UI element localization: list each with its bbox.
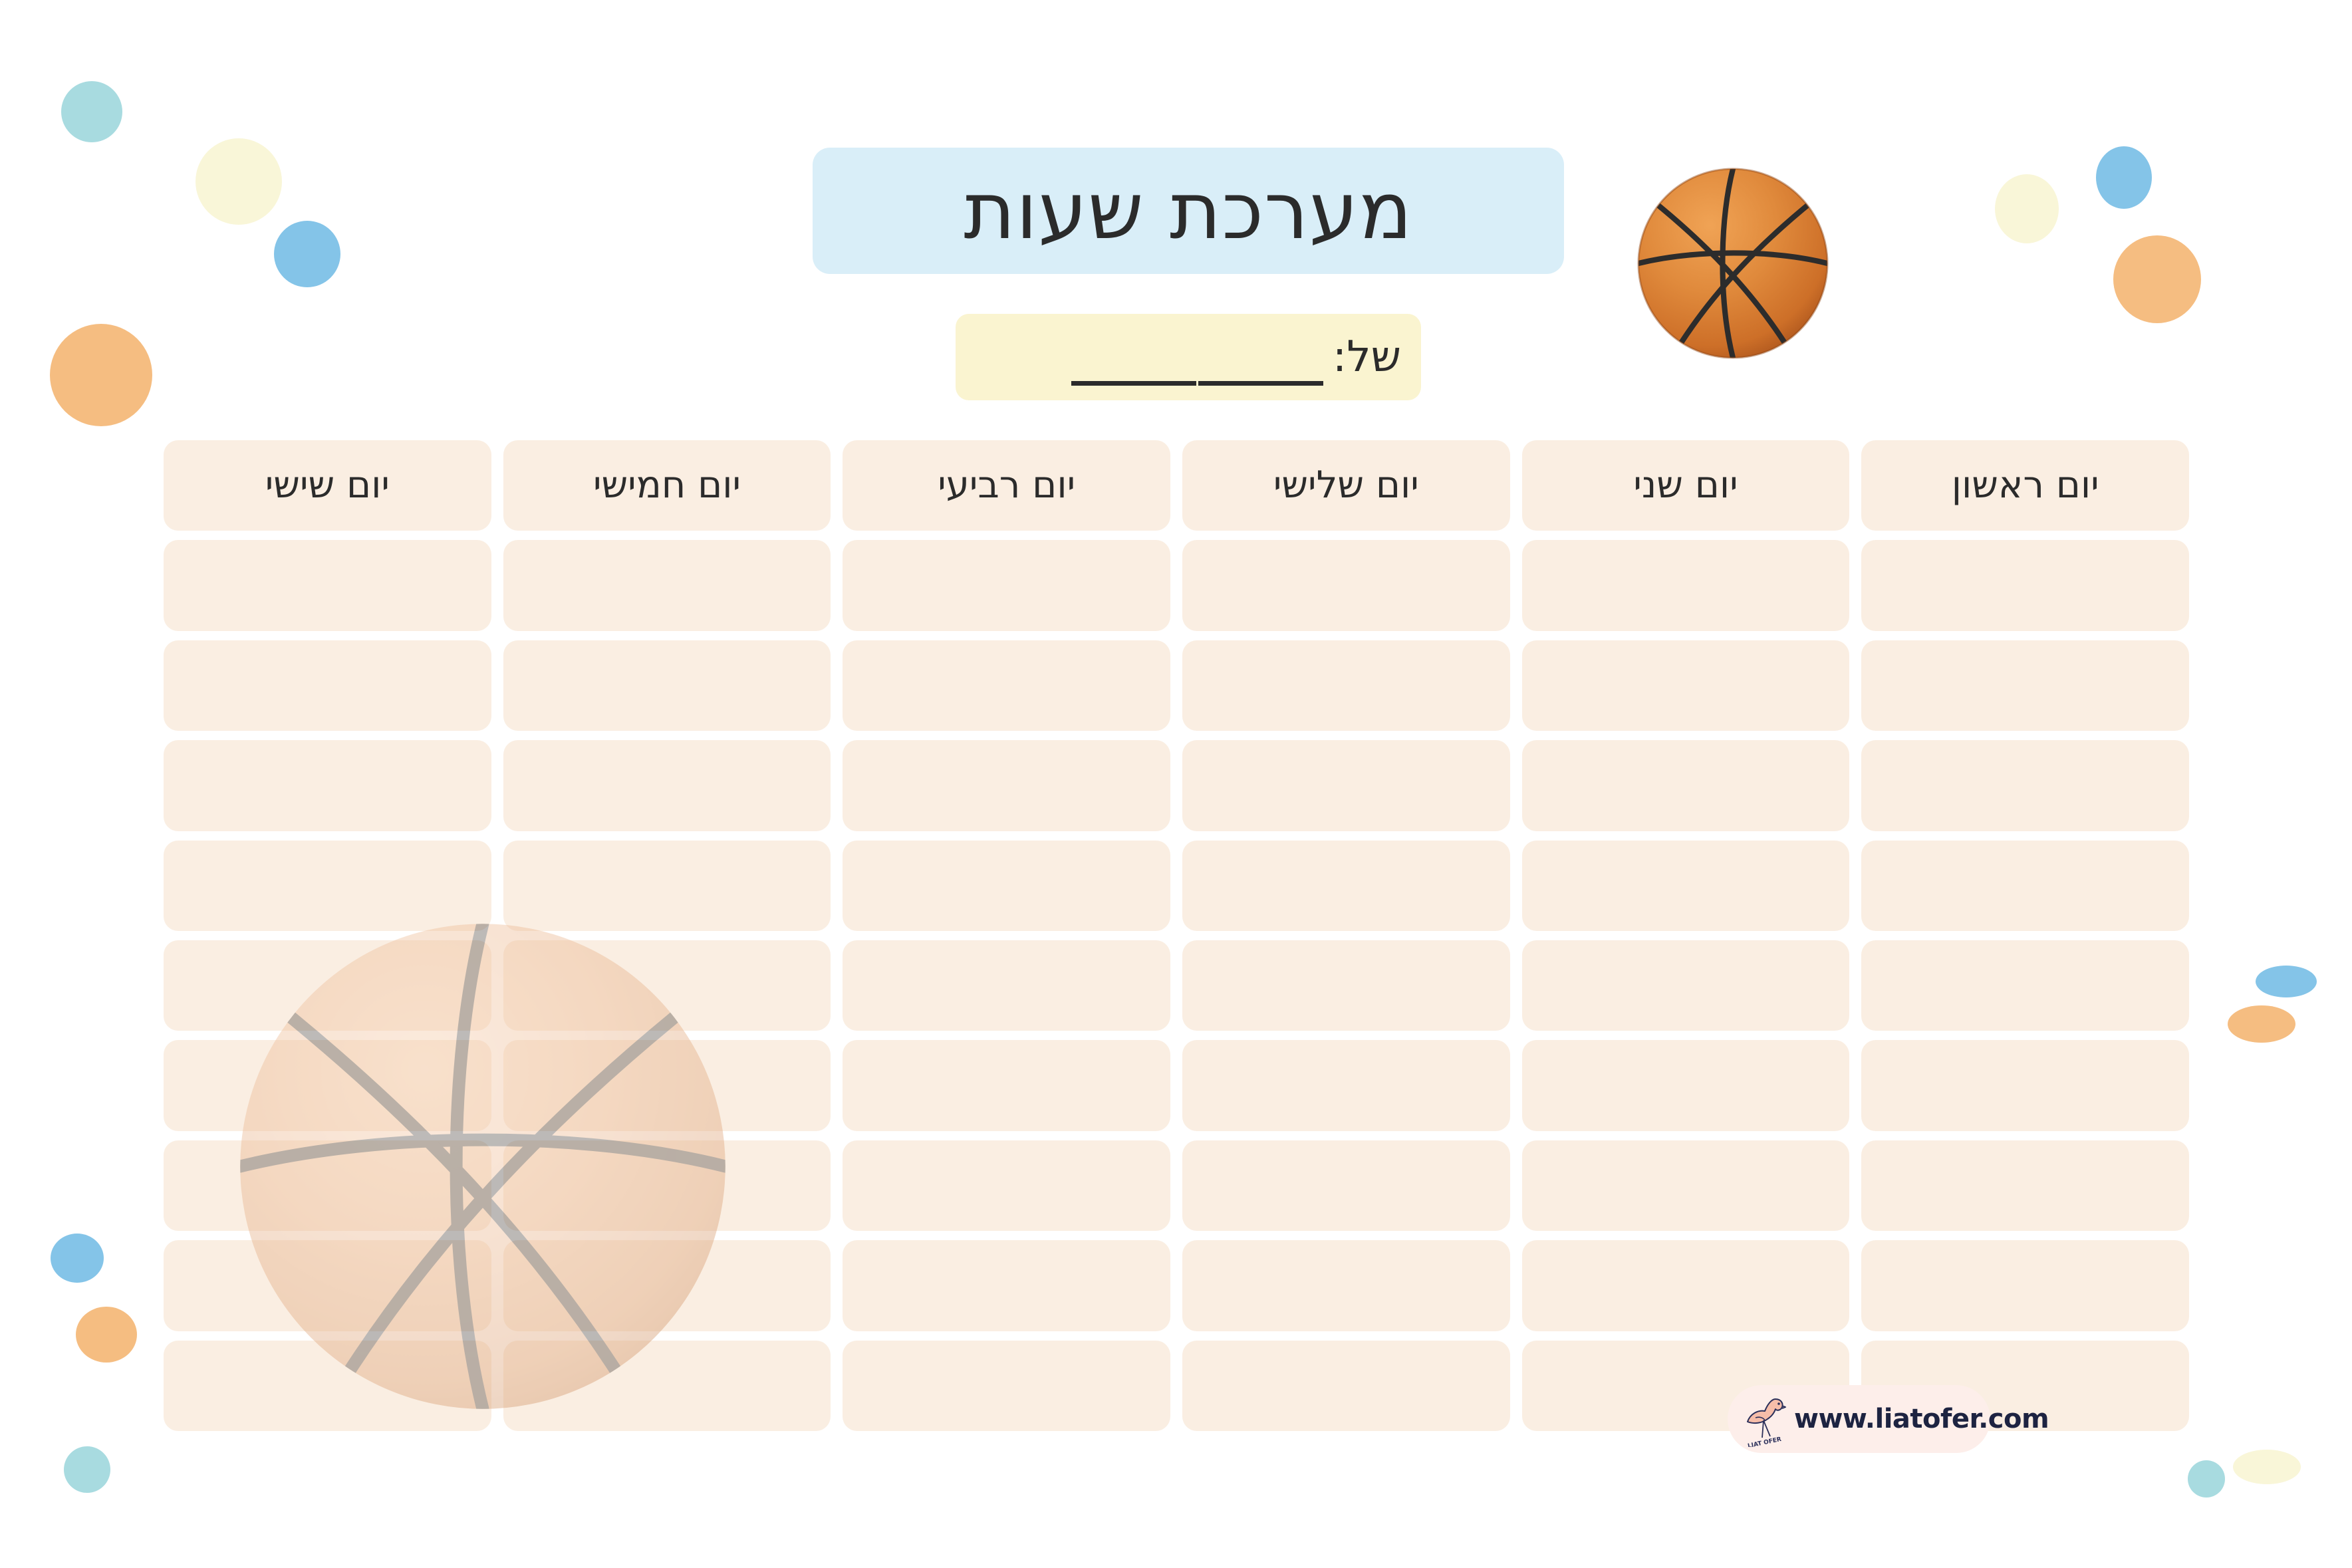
timetable-cell[interactable]	[1522, 740, 1850, 831]
dot-blue-bottom-right	[2256, 966, 2317, 997]
timetable-cell[interactable]	[503, 940, 831, 1031]
timetable-cell[interactable]	[1182, 540, 1510, 630]
dot-orange-bottom-left	[76, 1307, 137, 1363]
timetable-cell[interactable]	[1861, 540, 2189, 630]
timetable-cell[interactable]	[503, 640, 831, 731]
timetable-cell[interactable]	[164, 640, 491, 731]
timetable-cell[interactable]	[164, 540, 491, 630]
timetable-cell[interactable]	[843, 1341, 1170, 1431]
timetable-cell[interactable]	[164, 1040, 491, 1130]
page-title-box: מערכת שעות	[813, 148, 1564, 274]
timetable-cell[interactable]	[1861, 640, 2189, 731]
timetable-cell[interactable]	[503, 1140, 831, 1231]
timetable-cell[interactable]	[1522, 841, 1850, 931]
timetable-cell[interactable]	[164, 740, 491, 831]
dot-orange-top-right	[2113, 235, 2201, 323]
timetable-cell[interactable]	[1182, 940, 1510, 1031]
timetable-cell[interactable]	[843, 940, 1170, 1031]
timetable-cell[interactable]	[1861, 940, 2189, 1031]
day-header-label: יום רביעי	[938, 467, 1075, 504]
dot-teal-top-left	[61, 81, 122, 142]
timetable-grid: יום ראשוןיום שנייום שלישייום רביעייום חמ…	[164, 440, 2189, 1431]
timetable-cell[interactable]	[1861, 1140, 2189, 1231]
dot-blue-bottom-left	[51, 1234, 104, 1283]
page-title: מערכת שעות	[964, 172, 1412, 250]
timetable-cell[interactable]	[503, 740, 831, 831]
timetable-cell[interactable]	[843, 640, 1170, 731]
day-header-label: יום חמישי	[593, 467, 741, 504]
dot-teal-bottom-right	[2188, 1460, 2225, 1498]
dot-cream-bottom-right	[2233, 1450, 2301, 1484]
timetable-cell[interactable]	[503, 841, 831, 931]
timetable-cell[interactable]	[1861, 1040, 2189, 1130]
timetable-cell[interactable]	[164, 1240, 491, 1331]
flamingo-icon: LIAT OFER	[1741, 1391, 1789, 1447]
timetable-cell[interactable]	[164, 1140, 491, 1231]
day-header-cell: יום רביעי	[843, 440, 1170, 531]
timetable-cell[interactable]	[1861, 740, 2189, 831]
timetable-cell[interactable]	[503, 1341, 831, 1431]
timetable-cell[interactable]	[843, 1240, 1170, 1331]
timetable-cell[interactable]	[1182, 1040, 1510, 1130]
day-header-label: יום שני	[1633, 467, 1738, 504]
timetable-cell[interactable]	[843, 540, 1170, 630]
timetable-cell[interactable]	[1182, 1341, 1510, 1431]
timetable-cell[interactable]	[503, 540, 831, 630]
timetable-cell[interactable]	[1522, 640, 1850, 731]
day-header-cell: יום ראשון	[1861, 440, 2189, 531]
dot-cream-top-right	[1995, 174, 2059, 243]
timetable-cell[interactable]	[164, 940, 491, 1031]
day-header-label: יום שישי	[265, 467, 390, 504]
timetable-cell[interactable]	[843, 740, 1170, 831]
dot-orange-top-left	[50, 324, 152, 426]
owner-name-field[interactable]: של:	[956, 314, 1421, 400]
day-header-cell: יום שני	[1522, 440, 1850, 531]
day-header-cell: יום שלישי	[1182, 440, 1510, 531]
timetable-page: מערכת שעות של: יום ראשוןיום שנייום	[0, 0, 2352, 1568]
dot-blue-top-right	[2096, 146, 2152, 209]
timetable-cell[interactable]	[1522, 1040, 1850, 1130]
timetable-cell[interactable]	[1182, 1140, 1510, 1231]
dot-teal-bottom-left	[64, 1446, 110, 1493]
dot-orange-bottom-right	[2228, 1005, 2295, 1043]
timetable-cell[interactable]	[164, 1341, 491, 1431]
timetable-cell[interactable]	[843, 841, 1170, 931]
timetable-cell[interactable]	[503, 1240, 831, 1331]
dot-cream-top-left	[196, 138, 282, 225]
timetable-cell[interactable]	[1522, 940, 1850, 1031]
timetable-cell[interactable]	[1522, 540, 1850, 630]
day-header-label: יום ראשון	[1952, 467, 2099, 504]
timetable-cell[interactable]	[1182, 640, 1510, 731]
timetable-cell[interactable]	[1522, 1240, 1850, 1331]
owner-blank-line	[1069, 314, 1323, 400]
basketball-icon	[1634, 165, 1831, 362]
timetable-cell[interactable]	[164, 841, 491, 931]
timetable-cell[interactable]	[1861, 1240, 2189, 1331]
day-header-label: יום שלישי	[1273, 467, 1419, 504]
day-header-cell: יום שישי	[164, 440, 491, 531]
timetable-cell[interactable]	[1182, 841, 1510, 931]
timetable-cell[interactable]	[503, 1040, 831, 1130]
dot-blue-top-left	[274, 221, 340, 287]
site-watermark[interactable]: LIAT OFER www.liatofer.com	[1728, 1385, 1990, 1453]
flamingo-brand-text: LIAT OFER	[1747, 1436, 1782, 1447]
owner-label: של:	[1333, 336, 1401, 378]
timetable-cell[interactable]	[1522, 1140, 1850, 1231]
timetable-cell[interactable]	[843, 1040, 1170, 1130]
day-header-cell: יום חמישי	[503, 440, 831, 531]
timetable-cell[interactable]	[1182, 1240, 1510, 1331]
watermark-url: www.liatofer.com	[1794, 1404, 2049, 1434]
timetable-cell[interactable]	[1861, 841, 2189, 931]
timetable-cell[interactable]	[1182, 740, 1510, 831]
timetable-cell[interactable]	[843, 1140, 1170, 1231]
